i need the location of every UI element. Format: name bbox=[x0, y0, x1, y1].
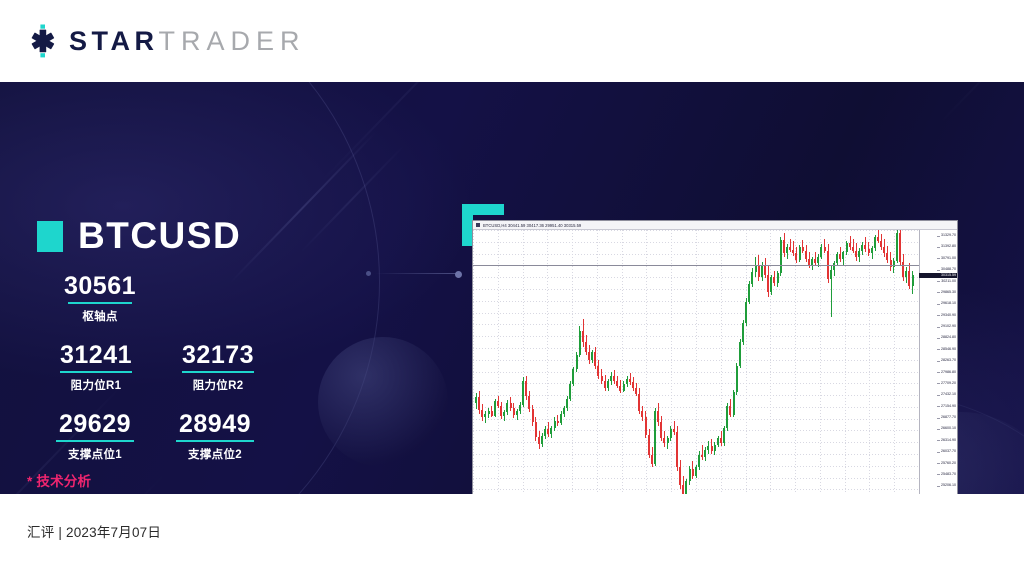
candle bbox=[833, 230, 835, 494]
candle-body bbox=[695, 467, 697, 475]
candle-body bbox=[883, 247, 885, 254]
candle-body bbox=[786, 247, 788, 253]
candle bbox=[792, 230, 794, 494]
candle-body bbox=[623, 384, 625, 391]
candle bbox=[601, 230, 603, 494]
candle bbox=[623, 230, 625, 494]
candle-body bbox=[698, 455, 700, 467]
candle bbox=[522, 230, 524, 494]
price-tick-label: 28824.80 bbox=[941, 336, 956, 340]
price-tick-label: 27709.20 bbox=[941, 382, 956, 386]
candle-body bbox=[519, 405, 521, 410]
candle bbox=[478, 230, 480, 494]
candle-body bbox=[814, 259, 816, 263]
candle-body bbox=[576, 355, 578, 369]
brand-name-light: TRADER bbox=[159, 26, 306, 57]
pivot-r1-value: 31241 bbox=[60, 341, 132, 369]
candle-body bbox=[886, 253, 888, 260]
candle bbox=[830, 230, 832, 494]
candle-body bbox=[478, 397, 480, 409]
candle bbox=[729, 230, 731, 494]
candle-body bbox=[723, 428, 725, 443]
candle-body bbox=[717, 438, 719, 445]
candle bbox=[532, 230, 534, 494]
candle bbox=[786, 230, 788, 494]
candle bbox=[777, 230, 779, 494]
candle bbox=[579, 230, 581, 494]
price-chart-window[interactable]: BTCUSD,H4 30441.59 30417.36 29951.40 303… bbox=[472, 220, 958, 494]
candle bbox=[673, 230, 675, 494]
candle-body bbox=[692, 469, 694, 476]
current-price-label: 30315.59 bbox=[919, 273, 957, 278]
candle bbox=[525, 230, 527, 494]
candle-body bbox=[663, 438, 665, 443]
candle bbox=[695, 230, 697, 494]
brand-name-bold: STAR bbox=[69, 26, 159, 57]
candle bbox=[516, 230, 518, 494]
candle bbox=[692, 230, 694, 494]
candle-body bbox=[817, 257, 819, 264]
candle bbox=[773, 230, 775, 494]
candle-body bbox=[707, 446, 709, 449]
candle bbox=[488, 230, 490, 494]
main-stage: BTCUSD 30561 枢轴点 31241 阻力位R1 32173 bbox=[0, 82, 1024, 494]
candle bbox=[902, 230, 904, 494]
candle-body bbox=[679, 467, 681, 484]
pivot-r1: 31241 阻力位R1 bbox=[60, 341, 132, 393]
candle bbox=[503, 230, 505, 494]
candle bbox=[839, 230, 841, 494]
candle bbox=[886, 230, 888, 494]
candle bbox=[663, 230, 665, 494]
candle-wick bbox=[853, 239, 854, 253]
candle bbox=[667, 230, 669, 494]
candle bbox=[805, 230, 807, 494]
price-tick-label: 28263.70 bbox=[941, 359, 956, 363]
candle-body bbox=[820, 247, 822, 257]
candle bbox=[742, 230, 744, 494]
candle bbox=[494, 230, 496, 494]
pivot-reference-line bbox=[473, 265, 919, 266]
candle bbox=[883, 230, 885, 494]
candle-body bbox=[839, 254, 841, 259]
candle-body bbox=[597, 366, 599, 376]
candle-body bbox=[569, 384, 571, 399]
candle-body bbox=[651, 455, 653, 464]
technical-analysis: * 技术分析 多头持仓在枢轴点以上，目标位为阻力位R1及阻力位R2。 若低于枢轴… bbox=[27, 470, 427, 494]
candle-body bbox=[736, 366, 738, 393]
candle-body bbox=[805, 251, 807, 259]
candle bbox=[755, 230, 757, 494]
price-tick-label: 31392.80 bbox=[941, 245, 956, 249]
candle bbox=[890, 230, 892, 494]
candle-body bbox=[890, 260, 892, 267]
candle-body bbox=[629, 379, 631, 382]
page-title: BTCUSD bbox=[37, 215, 241, 257]
candle bbox=[893, 230, 895, 494]
pivot-main: 30561 枢轴点 bbox=[64, 272, 136, 324]
candle-body bbox=[742, 323, 744, 342]
candle-body bbox=[855, 251, 857, 258]
pivot-r2-value: 32173 bbox=[182, 341, 254, 369]
candle-body bbox=[607, 381, 609, 388]
candle bbox=[670, 230, 672, 494]
candle-body bbox=[488, 411, 490, 414]
pivot-r2-label: 阻力位R2 bbox=[182, 377, 254, 393]
candle-body bbox=[667, 438, 669, 443]
candle bbox=[871, 230, 873, 494]
candle bbox=[557, 230, 559, 494]
candle bbox=[576, 230, 578, 494]
candle-body bbox=[475, 397, 477, 402]
candle bbox=[506, 230, 508, 494]
underline bbox=[68, 302, 132, 304]
candle-body bbox=[729, 406, 731, 415]
candle-body bbox=[739, 342, 741, 365]
pivot-s1-label: 支撑点位1 bbox=[56, 446, 134, 462]
candle-body bbox=[767, 275, 769, 292]
underline bbox=[60, 371, 132, 373]
candle-body bbox=[842, 252, 844, 259]
candle bbox=[585, 230, 587, 494]
candle-body bbox=[899, 233, 901, 261]
candle-body bbox=[773, 277, 775, 283]
candle bbox=[497, 230, 499, 494]
candle bbox=[685, 230, 687, 494]
candle bbox=[799, 230, 801, 494]
candle bbox=[510, 230, 512, 494]
price-tick-label: 26877.70 bbox=[941, 416, 956, 420]
six-point-star-icon bbox=[26, 24, 60, 58]
candle bbox=[657, 230, 659, 494]
candle-wick bbox=[793, 241, 794, 256]
candle-body bbox=[858, 251, 860, 258]
decorative-streak bbox=[939, 82, 1024, 123]
candle bbox=[541, 230, 543, 494]
candle-body bbox=[896, 233, 898, 260]
candle-body bbox=[547, 429, 549, 434]
decorative-hairline bbox=[375, 273, 457, 274]
candle bbox=[547, 230, 549, 494]
candle-body bbox=[689, 469, 691, 481]
brand-logo[interactable]: STAR TRADER bbox=[26, 24, 306, 58]
candle bbox=[861, 230, 863, 494]
candle bbox=[726, 230, 728, 494]
candle-body bbox=[550, 428, 552, 434]
candle bbox=[591, 230, 593, 494]
candle-body bbox=[541, 436, 543, 444]
candle bbox=[751, 230, 753, 494]
candle bbox=[711, 230, 713, 494]
candle bbox=[626, 230, 628, 494]
candle-body bbox=[610, 376, 612, 382]
candle bbox=[698, 230, 700, 494]
pivot-s1: 29629 支撑点位1 bbox=[56, 410, 134, 462]
candle-body bbox=[830, 270, 832, 279]
candle-body bbox=[836, 254, 838, 263]
slide-root: STAR TRADER BTCUSD 30561 bbox=[0, 0, 1024, 576]
candle-body bbox=[905, 271, 907, 278]
candle bbox=[707, 230, 709, 494]
instrument-symbol: BTCUSD bbox=[78, 215, 241, 257]
candle bbox=[811, 230, 813, 494]
candle bbox=[852, 230, 854, 494]
candle bbox=[745, 230, 747, 494]
candle bbox=[550, 230, 552, 494]
candle-body bbox=[528, 396, 530, 409]
candle-body bbox=[557, 421, 559, 424]
candle-body bbox=[538, 437, 540, 444]
candle-body bbox=[484, 414, 486, 417]
chart-window-icon bbox=[476, 223, 480, 227]
pivot-s2-value: 28949 bbox=[176, 410, 254, 438]
candle bbox=[535, 230, 537, 494]
candle bbox=[780, 230, 782, 494]
candle bbox=[802, 230, 804, 494]
candle bbox=[648, 230, 650, 494]
candle-body bbox=[676, 432, 678, 467]
candle-body bbox=[579, 331, 581, 355]
candle bbox=[701, 230, 703, 494]
candle-body bbox=[701, 455, 703, 458]
candle bbox=[842, 230, 844, 494]
title-accent-square bbox=[37, 221, 63, 252]
candle bbox=[849, 230, 851, 494]
candle-body bbox=[846, 243, 848, 252]
candle-body bbox=[745, 302, 747, 324]
footer-bar: 汇评 | 2023年7月07日 bbox=[0, 494, 1024, 576]
price-tick-label: 26037.70 bbox=[941, 450, 956, 454]
pivot-main-label: 枢轴点 bbox=[64, 308, 136, 324]
candle bbox=[714, 230, 716, 494]
candle bbox=[874, 230, 876, 494]
candle-body bbox=[525, 381, 527, 396]
price-axis[interactable]: 31329.7031392.8030791.0030488.7030211.00… bbox=[919, 230, 957, 494]
candle-body bbox=[585, 342, 587, 352]
candle bbox=[748, 230, 750, 494]
candle-body bbox=[645, 417, 647, 434]
candle bbox=[764, 230, 766, 494]
candle bbox=[905, 230, 907, 494]
candle-wick bbox=[702, 445, 703, 460]
candle-body bbox=[758, 266, 760, 278]
candle-body bbox=[566, 399, 568, 408]
pivot-s1-value: 29629 bbox=[56, 410, 134, 438]
candle-body bbox=[711, 446, 713, 451]
price-tick-label: 26600.10 bbox=[941, 427, 956, 431]
candle bbox=[629, 230, 631, 494]
candle-body bbox=[868, 249, 870, 253]
candle-body bbox=[877, 237, 879, 240]
candle-body bbox=[880, 241, 882, 247]
analysis-heading: * 技术分析 bbox=[27, 470, 427, 490]
candle-body bbox=[660, 422, 662, 438]
candle bbox=[899, 230, 901, 494]
candle-body bbox=[874, 237, 876, 248]
candle bbox=[814, 230, 816, 494]
candle-body bbox=[673, 429, 675, 432]
price-tick-label: 25760.20 bbox=[941, 462, 956, 466]
candle bbox=[594, 230, 596, 494]
candle bbox=[704, 230, 706, 494]
candle bbox=[767, 230, 769, 494]
candle bbox=[846, 230, 848, 494]
candle bbox=[519, 230, 521, 494]
candle-body bbox=[613, 376, 615, 381]
candle-body bbox=[506, 403, 508, 413]
candle bbox=[582, 230, 584, 494]
candle-body bbox=[871, 248, 873, 253]
candle bbox=[758, 230, 760, 494]
candle-body bbox=[560, 414, 562, 423]
candle-body bbox=[638, 394, 640, 411]
candle bbox=[484, 230, 486, 494]
footer-caption: 汇评 | 2023年7月07日 bbox=[27, 521, 161, 541]
pivot-main-value: 30561 bbox=[64, 272, 136, 300]
candle bbox=[858, 230, 860, 494]
candle-body bbox=[635, 388, 637, 394]
candle bbox=[817, 230, 819, 494]
candle bbox=[679, 230, 681, 494]
candle bbox=[554, 230, 556, 494]
candle-body bbox=[594, 352, 596, 365]
candle bbox=[613, 230, 615, 494]
pivot-levels: 30561 枢轴点 31241 阻力位R1 32173 阻力位R2 bbox=[30, 272, 380, 462]
price-tick-label: 29340.90 bbox=[941, 314, 956, 318]
chart-title-bar: BTCUSD,H4 30441.59 30417.36 29951.40 303… bbox=[473, 221, 957, 230]
candle-body bbox=[795, 253, 797, 260]
candle-body bbox=[849, 243, 851, 247]
price-tick-label: 30488.70 bbox=[941, 268, 956, 272]
candle bbox=[481, 230, 483, 494]
candle-body bbox=[626, 379, 628, 384]
price-tick-label: 28546.90 bbox=[941, 348, 956, 352]
candle-body bbox=[908, 271, 910, 286]
candle-body bbox=[755, 266, 757, 272]
candle bbox=[563, 230, 565, 494]
candle bbox=[560, 230, 562, 494]
underline bbox=[182, 371, 254, 373]
candle-body bbox=[503, 412, 505, 416]
candle bbox=[908, 230, 910, 494]
candle bbox=[632, 230, 634, 494]
candle bbox=[475, 230, 477, 494]
candle bbox=[491, 230, 493, 494]
candle-body bbox=[510, 403, 512, 408]
candle-body bbox=[563, 408, 565, 414]
price-tick-label: 30791.00 bbox=[941, 257, 956, 261]
candle bbox=[651, 230, 653, 494]
candle bbox=[544, 230, 546, 494]
candle bbox=[824, 230, 826, 494]
price-tick-label: 25483.70 bbox=[941, 473, 956, 477]
candle-body bbox=[582, 331, 584, 342]
candle bbox=[619, 230, 621, 494]
candle-body bbox=[726, 406, 728, 428]
candle bbox=[733, 230, 735, 494]
price-tick-label: 27432.10 bbox=[941, 393, 956, 397]
candlestick-plot[interactable] bbox=[473, 230, 919, 494]
candle-body bbox=[522, 381, 524, 405]
candle-wick bbox=[790, 239, 791, 252]
candle-body bbox=[494, 401, 496, 416]
candle bbox=[641, 230, 643, 494]
candle bbox=[836, 230, 838, 494]
candle-body bbox=[657, 411, 659, 422]
candle-body bbox=[670, 429, 672, 438]
price-tick-label: 29865.30 bbox=[941, 291, 956, 295]
candle bbox=[789, 230, 791, 494]
price-tick-label: 25206.10 bbox=[941, 484, 956, 488]
candle-body bbox=[733, 392, 735, 414]
candle-body bbox=[648, 435, 650, 455]
candle-body bbox=[864, 245, 866, 249]
candle-body bbox=[912, 275, 914, 286]
candle bbox=[616, 230, 618, 494]
candle-body bbox=[532, 409, 534, 422]
candle bbox=[689, 230, 691, 494]
candle-body bbox=[852, 247, 854, 250]
candle bbox=[877, 230, 879, 494]
candle bbox=[723, 230, 725, 494]
candle bbox=[610, 230, 612, 494]
candle bbox=[660, 230, 662, 494]
decorative-dot bbox=[455, 271, 462, 278]
candle bbox=[645, 230, 647, 494]
candle bbox=[820, 230, 822, 494]
candle bbox=[604, 230, 606, 494]
candle-body bbox=[588, 352, 590, 360]
candle bbox=[635, 230, 637, 494]
candle-body bbox=[761, 265, 763, 277]
candle bbox=[880, 230, 882, 494]
candle-body bbox=[654, 411, 656, 463]
candle-body bbox=[748, 284, 750, 301]
candle bbox=[607, 230, 609, 494]
candle bbox=[513, 230, 515, 494]
candle bbox=[864, 230, 866, 494]
candle-body bbox=[641, 411, 643, 418]
candle-body bbox=[500, 406, 502, 417]
candle-body bbox=[751, 272, 753, 284]
candle bbox=[770, 230, 772, 494]
candle bbox=[739, 230, 741, 494]
candle bbox=[717, 230, 719, 494]
candle bbox=[682, 230, 684, 494]
price-tick-label: 30211.00 bbox=[941, 280, 956, 284]
candle bbox=[736, 230, 738, 494]
candle bbox=[500, 230, 502, 494]
price-tick-label: 26314.90 bbox=[941, 439, 956, 443]
candle-body bbox=[535, 422, 537, 437]
candle-body bbox=[780, 240, 782, 273]
candle-body bbox=[799, 247, 801, 259]
underline bbox=[176, 440, 254, 442]
price-tick-label: 29618.10 bbox=[941, 302, 956, 306]
candle-body bbox=[572, 369, 574, 384]
candle bbox=[654, 230, 656, 494]
candle bbox=[597, 230, 599, 494]
candle-body bbox=[591, 352, 593, 359]
candle bbox=[588, 230, 590, 494]
candle-body bbox=[764, 265, 766, 275]
candle-body bbox=[714, 445, 716, 452]
candle bbox=[566, 230, 568, 494]
candle-body bbox=[491, 411, 493, 416]
header-bar: STAR TRADER bbox=[0, 0, 1024, 82]
candle-body bbox=[704, 450, 706, 457]
candle-body bbox=[783, 240, 785, 253]
